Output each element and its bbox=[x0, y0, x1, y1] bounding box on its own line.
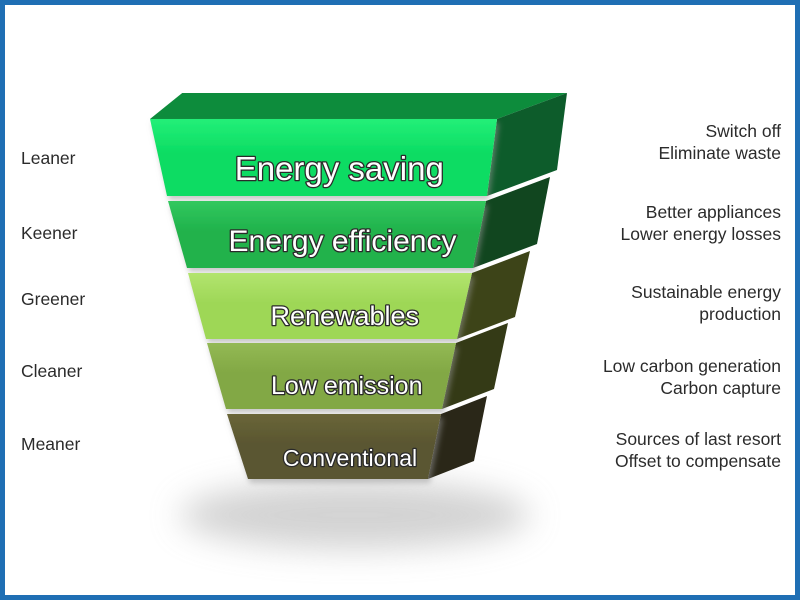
band-top-face bbox=[150, 93, 567, 119]
band-label: Renewables bbox=[270, 301, 419, 331]
funnel-diagram: Energy savingEnergy efficiencyRenewables… bbox=[5, 5, 800, 600]
band-label: Conventional bbox=[283, 445, 417, 471]
band-label: Low emission bbox=[271, 372, 422, 400]
diagram-canvas: Leaner Keener Greener Cleaner Meaner Swi… bbox=[5, 5, 795, 595]
shadow-ellipse bbox=[180, 481, 530, 549]
funnel-band[interactable]: Energy saving bbox=[150, 93, 567, 196]
funnel-ground-shadow bbox=[180, 481, 530, 549]
band-label: Energy efficiency bbox=[229, 225, 457, 258]
band-label: Energy saving bbox=[235, 150, 444, 187]
funnel-bands: Energy savingEnergy efficiencyRenewables… bbox=[150, 93, 567, 479]
funnel-svg: Energy savingEnergy efficiencyRenewables… bbox=[5, 5, 800, 600]
image-frame: Leaner Keener Greener Cleaner Meaner Swi… bbox=[0, 0, 800, 600]
